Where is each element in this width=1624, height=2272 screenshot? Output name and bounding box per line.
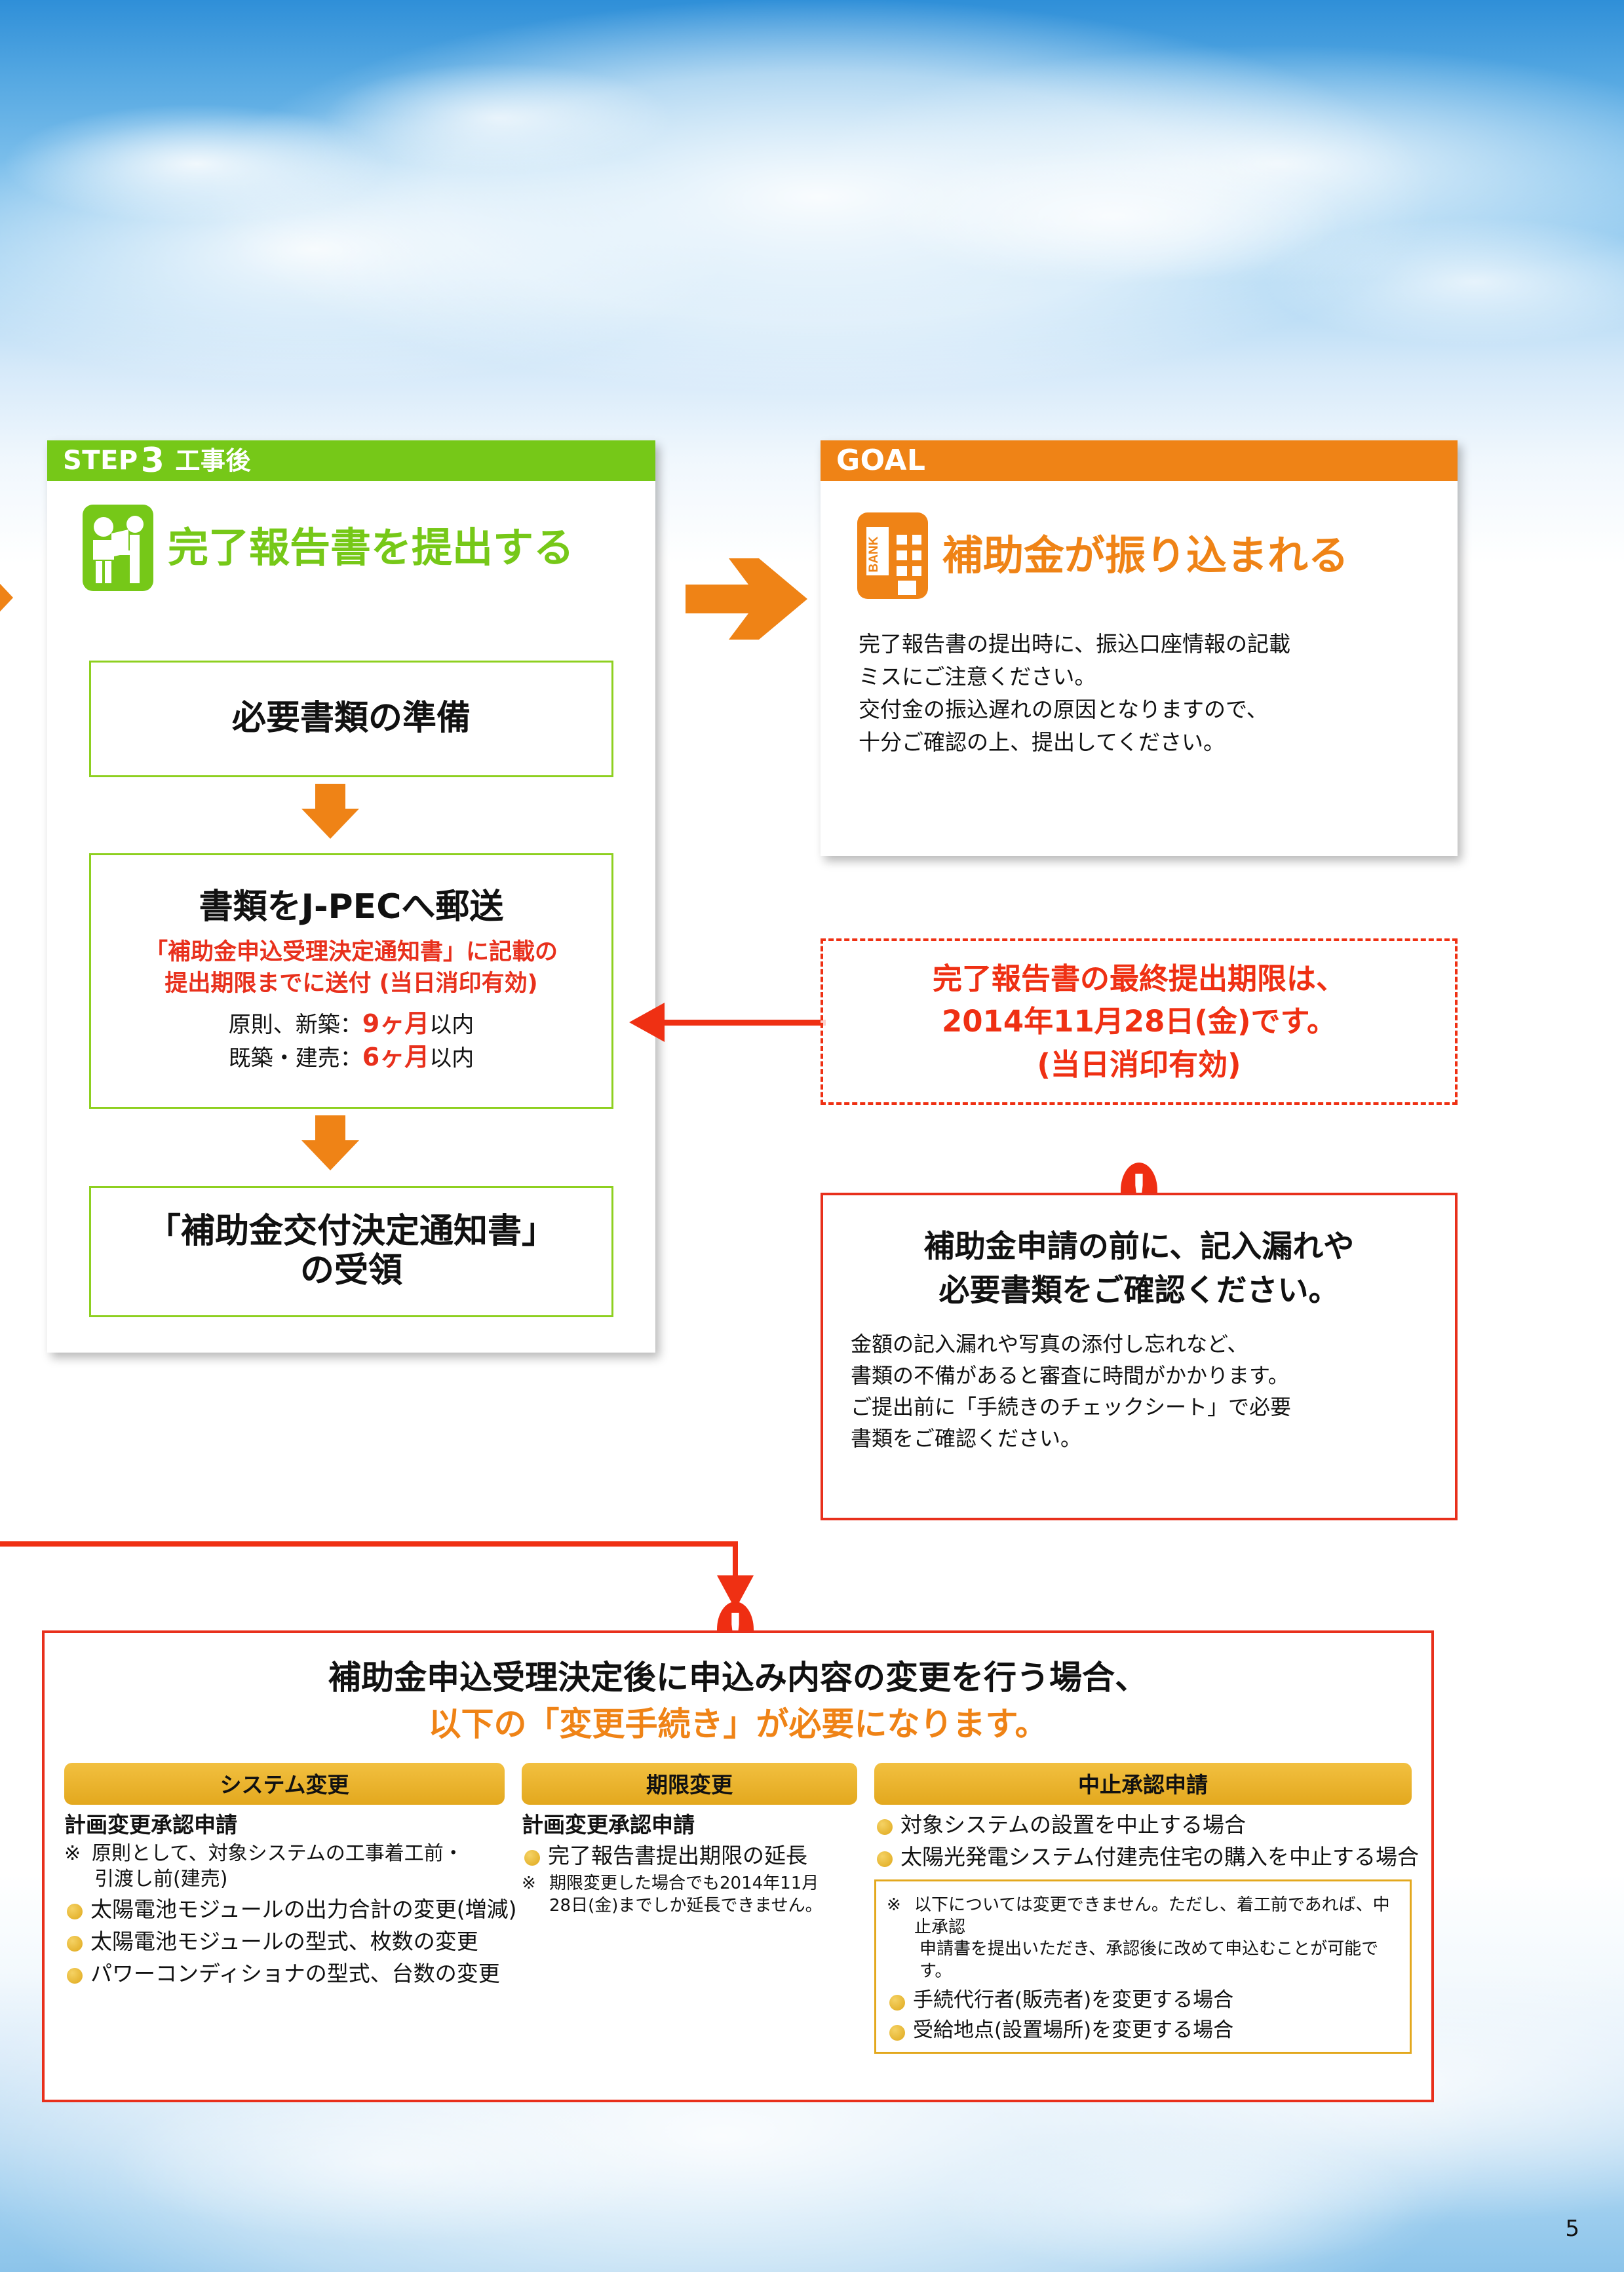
flow-box-prepare-documents-title: 必要書類の準備 xyxy=(232,699,471,739)
deadline-line-2: 2014年11月28日(金)です。 xyxy=(942,1000,1336,1043)
mail-deadline-note-line1: 「補助金申込受理決定通知書」に記載の xyxy=(145,937,558,968)
column-system-change-subtitle: 計画変更承認申請 xyxy=(64,1811,505,1838)
warning-head-line1: 補助金申請の前に、記入漏れや xyxy=(851,1225,1427,1269)
column-deadline-change: 期限変更 計画変更承認申請 完了報告書提出期限の延長 期限変更した場合でも201… xyxy=(522,1763,857,2054)
step3-title: 完了報告書を提出する xyxy=(168,528,574,568)
flow-box-receive-notice-line1: 「補助金交付決定通知書」 xyxy=(147,1212,556,1252)
cancel-approval-subbox: 以下については変更できません。ただし、着工前であれば、中止承認 申請書を提出いた… xyxy=(874,1879,1412,2054)
bottom-connector-horizontal xyxy=(0,1541,738,1547)
list-item: 受給地点(設置場所)を変更する場合 xyxy=(887,2017,1399,2043)
arrow-left-icon-deadline xyxy=(629,1003,665,1042)
column-system-change-note: 原則として、対象システムの工事着工前・ 引渡し前(建売) xyxy=(64,1841,505,1892)
step3-step-number: 3 xyxy=(141,444,165,478)
bank-building-icon: BANK xyxy=(857,512,928,599)
column-deadline-change-header: 期限変更 xyxy=(522,1763,857,1805)
term-newbuild: 原則、新築：9ヶ月以内 xyxy=(229,1007,474,1041)
column-system-change-header: システム変更 xyxy=(64,1763,505,1805)
column-system-change-list: 太陽電池モジュールの出力合計の変更(増減) 太陽電池モジュールの型式、枚数の変更… xyxy=(64,1896,505,1988)
svg-text:BANK: BANK xyxy=(867,536,881,572)
goal-body-line-2: ミスにご注意ください。 xyxy=(859,661,1458,693)
flow-box-receive-notice-line2: の受領 xyxy=(300,1252,402,1291)
step3-step-label: 工事後 xyxy=(175,448,251,473)
bottom-head-line1: 補助金申込受理決定後に申込み内容の変更を行う場合、 xyxy=(64,1657,1412,1699)
goal-body-line-4: 十分ご確認の上、提出してください。 xyxy=(859,726,1458,759)
deadline-connector-line xyxy=(662,1020,826,1026)
list-item: 太陽電池モジュールの出力合計の変更(増減) xyxy=(64,1896,505,1924)
warning-body-line-3: ご提出前に「手続きのチェックシート」で必要 xyxy=(851,1391,1427,1423)
flow-box-prepare-documents: 必要書類の準備 xyxy=(89,661,613,777)
column-deadline-change-list: 完了報告書提出期限の延長 xyxy=(522,1842,857,1870)
final-deadline-box: 完了報告書の最終提出期限は、 2014年11月28日(金)です。 (当日消印有効… xyxy=(821,938,1458,1105)
goal-panel: GOAL BANK 補助金が振り込まれる 完了報告書の提出時に、振込口座情報 xyxy=(821,440,1458,856)
list-item: 対象システムの設置を中止する場合 xyxy=(874,1811,1412,1839)
column-deadline-change-note: 期限変更した場合でも2014年11月 28日(金)までしか延長できません。 xyxy=(522,1873,857,1917)
goal-header-bar: GOAL xyxy=(821,440,1458,481)
warning-body-line-1: 金額の記入漏れや写真の添付し忘れなど、 xyxy=(851,1328,1427,1360)
incoming-flow-arrow xyxy=(0,554,13,641)
step3-header-bar: STEP 3 工事後 xyxy=(47,440,655,481)
cancel-approval-subitems: 手続代行者(販売者)を変更する場合 受給地点(設置場所)を変更する場合 xyxy=(887,1987,1399,2044)
deadline-line-3: (当日消印有効) xyxy=(1037,1043,1241,1086)
bottom-connector-vertical xyxy=(733,1541,738,1581)
list-item: 太陽光発電システム付建売住宅の購入を中止する場合 xyxy=(874,1843,1412,1872)
goal-body-line-3: 交付金の振込遅れの原因となりますので、 xyxy=(859,693,1458,726)
step3-step-word: STEP xyxy=(63,448,138,474)
warning-box: 補助金申請の前に、記入漏れや 必要書類をご確認ください。 金額の記入漏れや写真の… xyxy=(821,1193,1458,1520)
column-cancel-approval-header: 中止承認申請 xyxy=(874,1763,1412,1805)
page-number: 5 xyxy=(1565,2216,1579,2242)
goal-title: 補助金が振り込まれる xyxy=(942,535,1349,576)
change-procedures-panel: 補助金申込受理決定後に申込み内容の変更を行う場合、 以下の「変更手続き」が必要に… xyxy=(42,1630,1434,2102)
flow-box-mail-to-jpec: 書類をJ-PECへ郵送 「補助金申込受理決定通知書」に記載の 提出期限までに送付… xyxy=(89,853,613,1109)
column-system-change: システム変更 計画変更承認申請 原則として、対象システムの工事着工前・ 引渡し前… xyxy=(64,1763,505,2054)
flow-box-mail-to-jpec-title: 書類をJ-PECへ郵送 xyxy=(199,888,504,927)
column-cancel-approval: 中止承認申請 対象システムの設置を中止する場合 太陽光発電システム付建売住宅の購… xyxy=(874,1763,1412,2054)
deadline-line-1: 完了報告書の最終提出期限は、 xyxy=(933,957,1345,1000)
step3-panel: STEP 3 工事後 完了報告書を提出する 必要書類の準備 xyxy=(47,440,655,1353)
goal-bar-label: GOAL xyxy=(836,446,925,475)
flow-box-receive-notice: 「補助金交付決定通知書」 の受領 xyxy=(89,1186,613,1317)
warning-body: 金額の記入漏れや写真の添付し忘れなど、 書類の不備があると審査に時間がかかります… xyxy=(851,1328,1427,1454)
list-item: 太陽電池モジュールの型式、枚数の変更 xyxy=(64,1928,505,1956)
goal-body-line-1: 完了報告書の提出時に、振込口座情報の記載 xyxy=(859,628,1458,661)
warning-body-line-2: 書類の不備があると審査に時間がかかります。 xyxy=(851,1360,1427,1391)
warning-body-line-4: 書類をご確認ください。 xyxy=(851,1423,1427,1454)
mail-deadline-note-line2: 提出期限までに送付 (当日消印有効) xyxy=(164,969,537,999)
warning-head-line2: 必要書類をご確認ください。 xyxy=(851,1269,1427,1313)
document-handover-icon xyxy=(83,505,153,591)
list-item: 完了報告書提出期限の延長 xyxy=(522,1842,857,1870)
column-deadline-change-subtitle: 計画変更承認申請 xyxy=(522,1811,857,1838)
column-cancel-approval-list: 対象システムの設置を中止する場合 太陽光発電システム付建売住宅の購入を中止する場… xyxy=(874,1811,1412,1872)
cancel-approval-subnote: 以下については変更できません。ただし、着工前であれば、中止承認 申請書を提出いた… xyxy=(887,1895,1399,1983)
list-item: パワーコンディショナの型式、台数の変更 xyxy=(64,1960,505,1988)
bottom-head-line2: 以下の「変更手続き」が必要になります。 xyxy=(64,1703,1412,1746)
list-item: 手続代行者(販売者)を変更する場合 xyxy=(887,1987,1399,2013)
term-existing: 既築・建売：6ヶ月以内 xyxy=(229,1041,474,1074)
